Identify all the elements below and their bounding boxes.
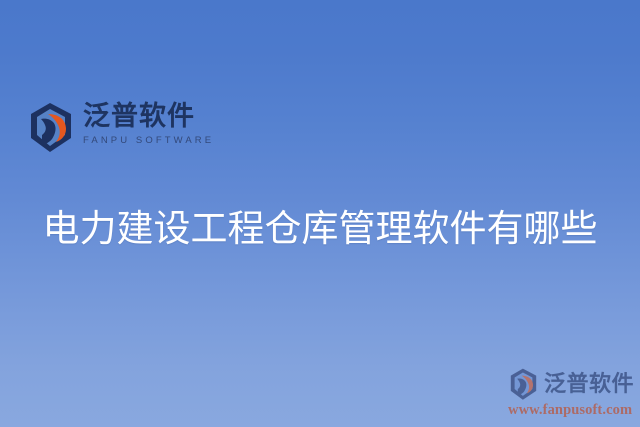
- watermark-logo-row: 泛普软件: [508, 368, 636, 401]
- fanpu-hexagon-logo-icon: [28, 102, 74, 154]
- watermark-url: www.fanpusoft.com: [508, 402, 636, 419]
- watermark-brand-name: 泛普软件: [544, 372, 634, 398]
- brand-logo: 泛普软件 FANPU SOFTWARE: [28, 101, 214, 154]
- watermark: 泛普软件 www.fanpusoft.com: [508, 368, 636, 419]
- page-title: 电力建设工程仓库管理软件有哪些: [0, 206, 640, 252]
- brand-name-cn: 泛普软件: [83, 101, 214, 132]
- fanpu-hexagon-logo-icon: [508, 368, 539, 401]
- promo-banner: 泛普软件 FANPU SOFTWARE 电力建设工程仓库管理软件有哪些 泛普软件…: [0, 0, 640, 427]
- brand-text-block: 泛普软件 FANPU SOFTWARE: [83, 101, 214, 147]
- brand-name-en: FANPU SOFTWARE: [83, 135, 214, 147]
